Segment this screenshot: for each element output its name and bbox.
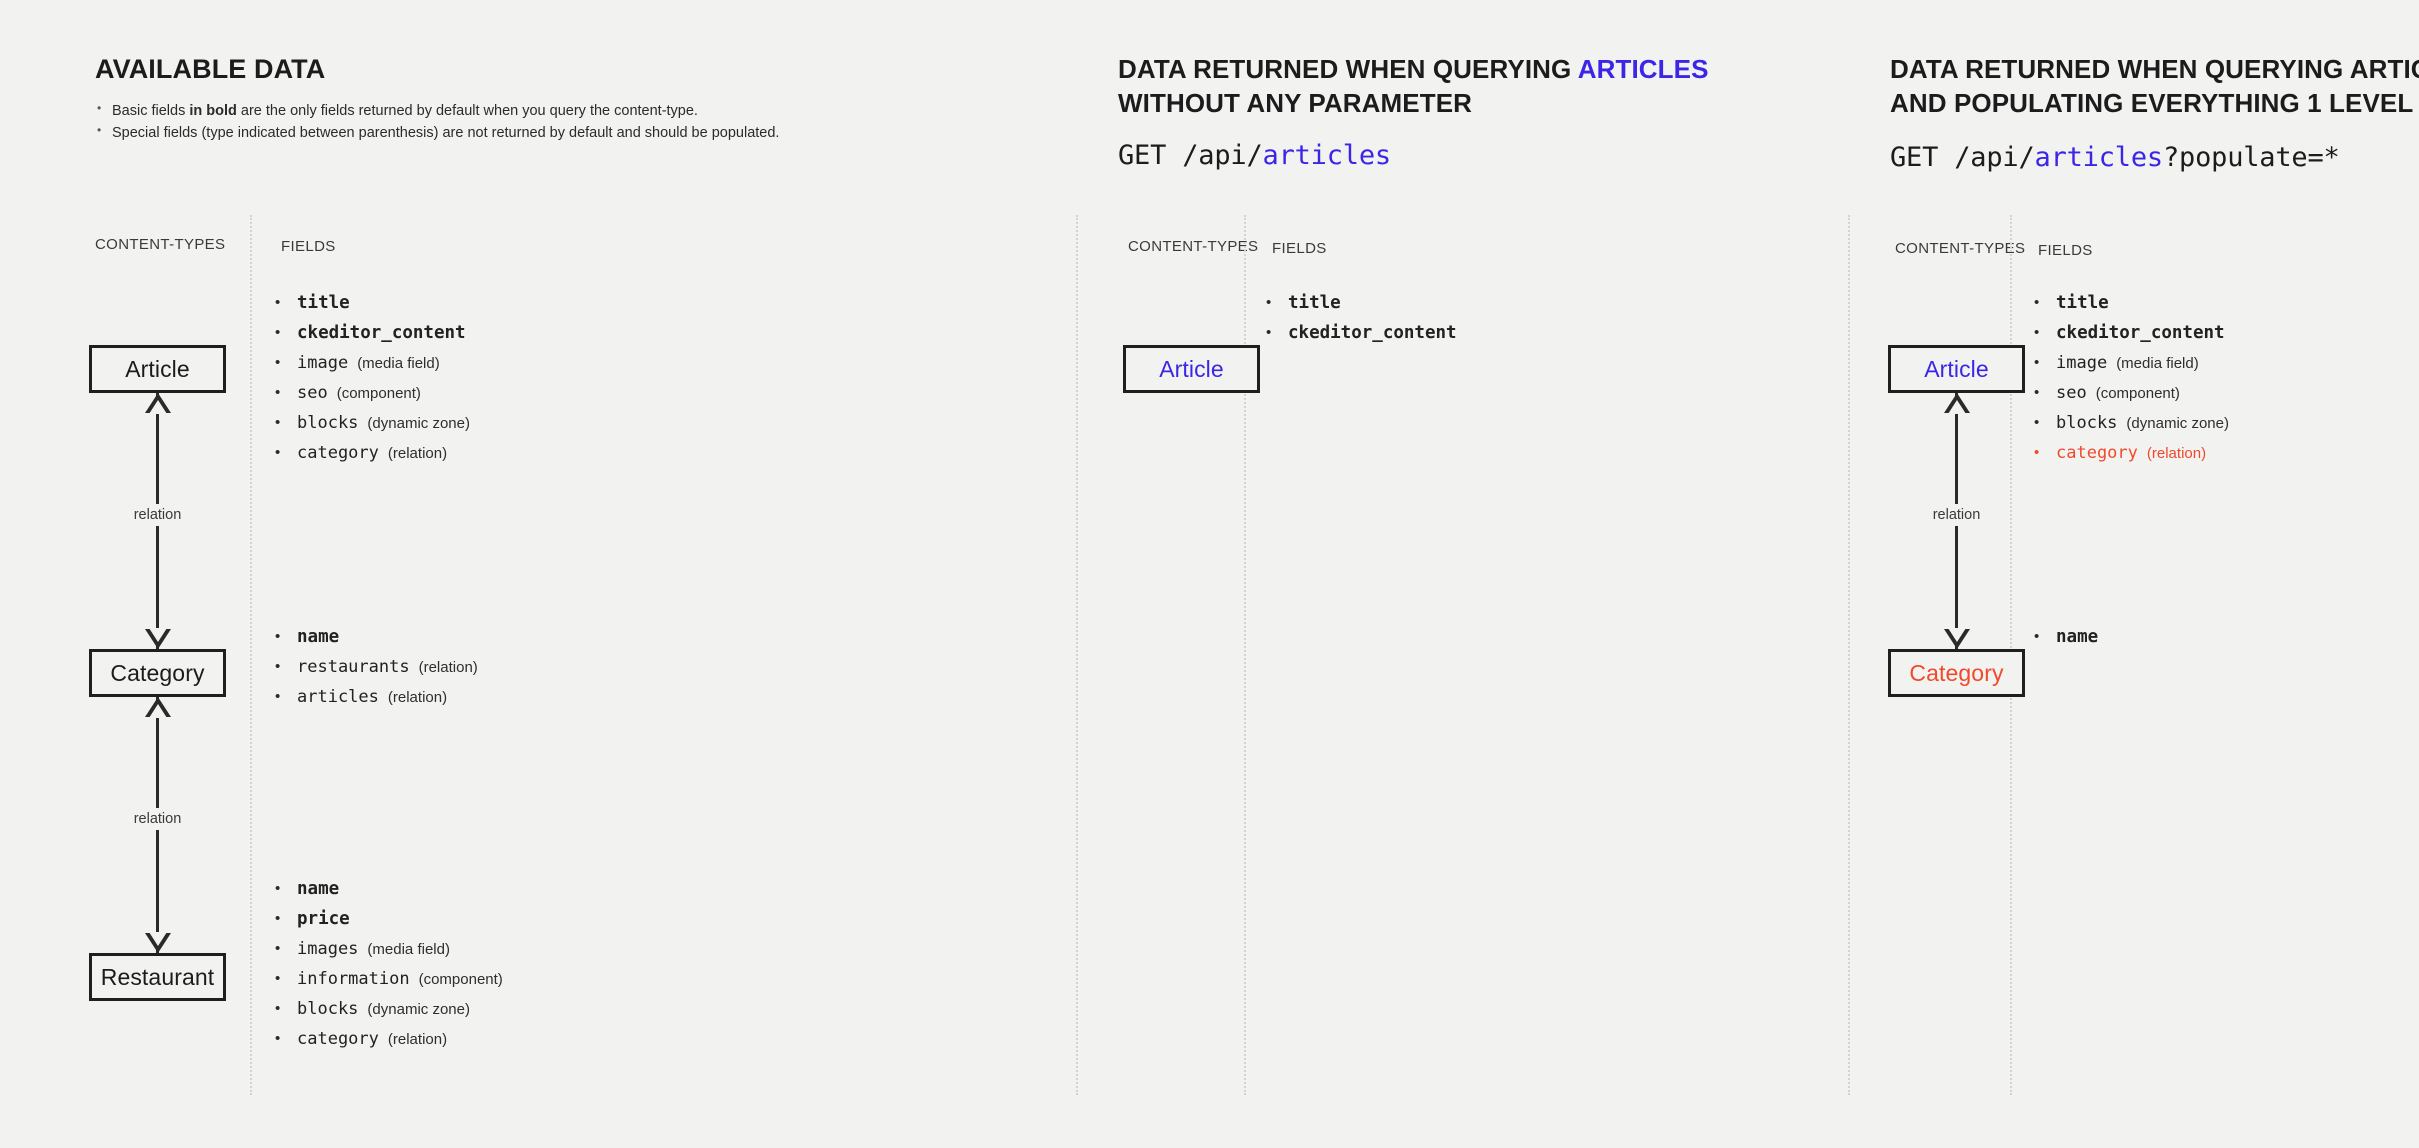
relation-connector-article-category: relation xyxy=(1930,393,1983,649)
field-name: blocks xyxy=(2056,413,2117,433)
field-name: blocks xyxy=(297,413,358,433)
field-item: title xyxy=(1264,288,1457,318)
relation-label: relation xyxy=(1927,504,1987,526)
title-part-2: AND POPULATING EVERYTHING 1 LEVEL DEEP xyxy=(1890,88,2419,118)
field-item: name xyxy=(2032,622,2098,652)
field-type: (media field) xyxy=(367,941,450,958)
endpoint-url: GET /api/articles xyxy=(1118,140,1391,171)
field-item: category(relation) xyxy=(2032,438,2229,468)
field-name: seo xyxy=(297,383,328,403)
field-name: title xyxy=(297,293,350,313)
col-header-fields: FIELDS xyxy=(1272,240,1327,257)
field-name: restaurants xyxy=(297,657,410,677)
entity-box-restaurant[interactable]: Restaurant xyxy=(89,953,226,1001)
relation-connector-category-restaurant: relation xyxy=(131,697,184,953)
relation-label: relation xyxy=(128,504,188,526)
field-item: name xyxy=(273,622,478,652)
field-name: seo xyxy=(2056,383,2087,403)
panel-query-with-populate: DATA RETURNED WHEN QUERYING ARTICLESAND … xyxy=(1850,0,2419,1148)
field-item: image(media field) xyxy=(273,348,470,378)
legend-notes: Basic fields in bold are the only fields… xyxy=(95,100,855,144)
field-type: (dynamic zone) xyxy=(367,1001,470,1018)
field-name: title xyxy=(1288,293,1341,313)
endpoint-url: GET /api/articles?populate=* xyxy=(1890,142,2340,173)
field-type: (relation) xyxy=(419,659,478,676)
arrow-head-up-icon xyxy=(145,393,171,413)
panel-available-data: AVAILABLE DATA Basic fields in bold are … xyxy=(0,0,1078,1148)
field-type: (component) xyxy=(419,971,503,988)
col-header-content-types: CONTENT-TYPES xyxy=(95,236,225,253)
field-list-article: titleckeditor_contentimage(media field)s… xyxy=(273,288,470,468)
field-name: price xyxy=(297,909,350,929)
field-name: category xyxy=(297,443,379,463)
field-type: (media field) xyxy=(2116,355,2199,372)
legend-note-special: Special fields (type indicated between p… xyxy=(95,122,855,144)
col-header-fields: FIELDS xyxy=(281,238,336,255)
field-item: articles(relation) xyxy=(273,682,478,712)
field-item: information(component) xyxy=(273,964,503,994)
field-list-restaurant: namepriceimages(media field)information(… xyxy=(273,874,503,1054)
entity-box-article[interactable]: Article xyxy=(1888,345,2025,393)
page-title: AVAILABLE DATA xyxy=(95,52,325,88)
entity-box-category[interactable]: Category xyxy=(89,649,226,697)
field-item: blocks(dynamic zone) xyxy=(2032,408,2229,438)
field-item: name xyxy=(273,874,503,904)
field-item: ckeditor_content xyxy=(1264,318,1457,348)
field-name: name xyxy=(2056,627,2098,647)
field-list-category: namerestaurants(relation)articles(relati… xyxy=(273,622,478,712)
title-part-1: DATA RETURNED WHEN QUERYING ARTICLES xyxy=(1890,54,2419,84)
field-item: seo(component) xyxy=(273,378,470,408)
endpoint-path-prefix: /api/ xyxy=(1182,140,1262,171)
field-item: price xyxy=(273,904,503,934)
field-type: (dynamic zone) xyxy=(2126,415,2229,432)
endpoint-query: ?populate=* xyxy=(2163,142,2340,173)
http-method: GET xyxy=(1890,142,1954,173)
field-type: (relation) xyxy=(388,689,447,706)
field-type: (relation) xyxy=(388,445,447,462)
field-item: blocks(dynamic zone) xyxy=(273,994,503,1024)
field-item: image(media field) xyxy=(2032,348,2229,378)
panel-query-without-parameter: DATA RETURNED WHEN QUERYING ARTICLESWITH… xyxy=(1078,0,1850,1148)
entity-box-article[interactable]: Article xyxy=(89,345,226,393)
field-name: ckeditor_content xyxy=(2056,323,2225,343)
field-list-article: titleckeditor_content xyxy=(1264,288,1457,348)
entity-box-category[interactable]: Category xyxy=(1888,649,2025,697)
page-title: DATA RETURNED WHEN QUERYING ARTICLESAND … xyxy=(1890,52,2419,121)
field-name: ckeditor_content xyxy=(297,323,466,343)
field-name: image xyxy=(297,353,348,373)
title-accent-articles: ARTICLES xyxy=(1578,54,1709,84)
field-item: seo(component) xyxy=(2032,378,2229,408)
page-title: DATA RETURNED WHEN QUERYING ARTICLESWITH… xyxy=(1118,52,1878,121)
field-type: (relation) xyxy=(388,1031,447,1048)
field-name: image xyxy=(2056,353,2107,373)
arrow-head-up-icon xyxy=(1944,393,1970,413)
field-name: information xyxy=(297,969,410,989)
field-name: title xyxy=(2056,293,2109,313)
field-item: title xyxy=(273,288,470,318)
field-type: (component) xyxy=(2096,385,2180,402)
field-name: category xyxy=(2056,443,2138,463)
field-name: images xyxy=(297,939,358,959)
field-name: category xyxy=(297,1029,379,1049)
field-name: name xyxy=(297,627,339,647)
field-item: category(relation) xyxy=(273,438,470,468)
field-item: blocks(dynamic zone) xyxy=(273,408,470,438)
field-item: category(relation) xyxy=(273,1024,503,1054)
field-item: ckeditor_content xyxy=(273,318,470,348)
field-list-category: name xyxy=(2032,622,2098,652)
title-part-1: DATA RETURNED WHEN QUERYING xyxy=(1118,54,1578,84)
arrow-head-down-icon xyxy=(145,629,171,649)
field-name: blocks xyxy=(297,999,358,1019)
field-type: (component) xyxy=(337,385,421,402)
legend-note-basic: Basic fields in bold are the only fields… xyxy=(95,100,855,122)
field-type: (relation) xyxy=(2147,445,2206,462)
field-item: restaurants(relation) xyxy=(273,652,478,682)
field-type: (media field) xyxy=(357,355,440,372)
http-method: GET xyxy=(1118,140,1182,171)
field-name: name xyxy=(297,879,339,899)
col-header-content-types: CONTENT-TYPES xyxy=(1895,240,2025,257)
column-divider-dotted xyxy=(250,215,252,1095)
relation-connector-article-category: relation xyxy=(131,393,184,649)
relation-label: relation xyxy=(128,808,188,830)
field-item: ckeditor_content xyxy=(2032,318,2229,348)
field-name: ckeditor_content xyxy=(1288,323,1457,343)
col-header-fields: FIELDS xyxy=(2038,242,2093,259)
arrow-head-down-icon xyxy=(145,933,171,953)
entity-box-article[interactable]: Article xyxy=(1123,345,1260,393)
field-name: articles xyxy=(297,687,379,707)
endpoint-path-prefix: /api/ xyxy=(1954,142,2034,173)
field-item: title xyxy=(2032,288,2229,318)
field-list-article: titleckeditor_contentimage(media field)s… xyxy=(2032,288,2229,468)
field-item: images(media field) xyxy=(273,934,503,964)
endpoint-collection: articles xyxy=(2035,142,2163,173)
col-header-content-types: CONTENT-TYPES xyxy=(1128,238,1258,255)
field-type: (dynamic zone) xyxy=(367,415,470,432)
arrow-head-down-icon xyxy=(1944,629,1970,649)
title-part-2: WITHOUT ANY PARAMETER xyxy=(1118,88,1472,118)
arrow-head-up-icon xyxy=(145,697,171,717)
endpoint-collection: articles xyxy=(1263,140,1391,171)
